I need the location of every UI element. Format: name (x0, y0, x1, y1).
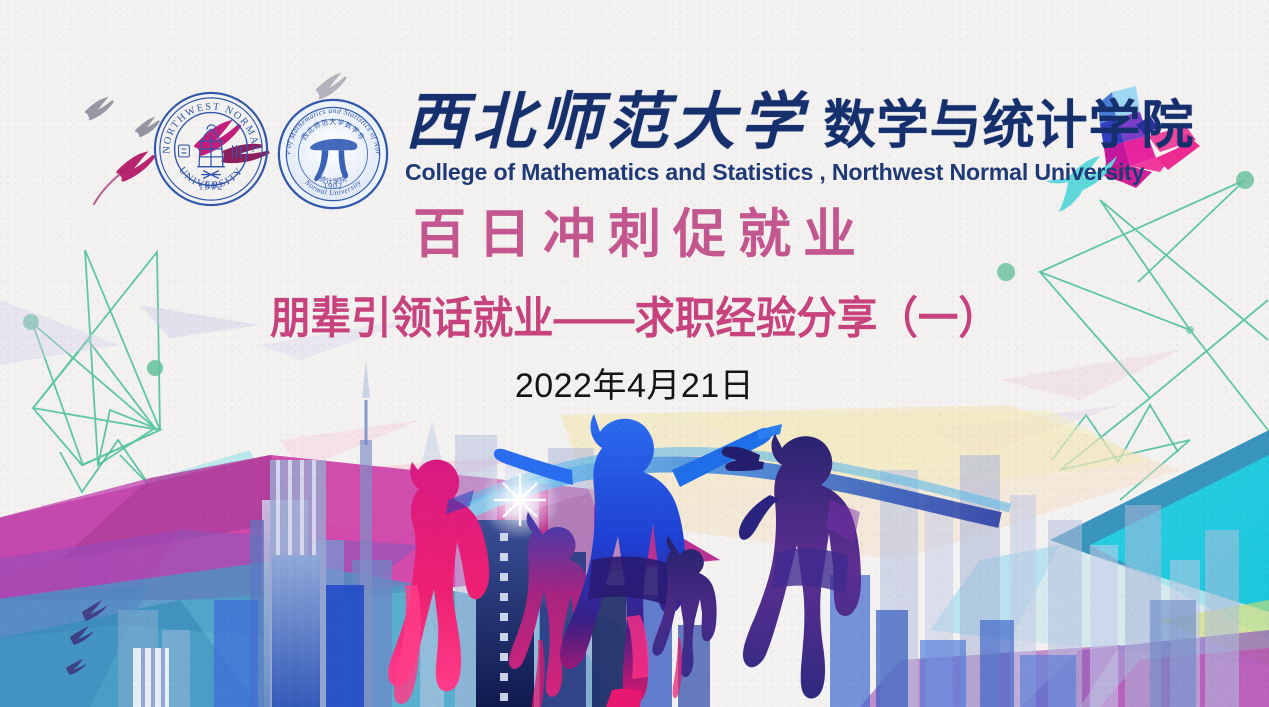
header-brand-block: NORTHWEST NORMAL UNIVERSITY 190 (0, 40, 1269, 175)
institution-name-chinese: 西北师范大学 数学与统计学院 (405, 92, 1115, 155)
svg-text:1902: 1902 (323, 182, 343, 191)
svg-text:1902: 1902 (198, 181, 223, 192)
college-name-cn: 数学与统计学院 (824, 98, 1195, 155)
event-date: 2022年4月21日 (0, 358, 1269, 407)
sub-title: 朋辈引领话就业——求职经验分享（一） (51, 282, 1218, 346)
northwest-normal-university-seal: NORTHWEST NORMAL UNIVERSITY 190 (152, 90, 270, 208)
main-title: 百日冲刺促就业 (0, 192, 1269, 268)
poster-canvas: NORTHWEST NORMAL UNIVERSITY 190 (0, 0, 1269, 707)
institution-name-english: College of Mathematics and Statistics , … (405, 159, 1104, 186)
university-name-cn: 西北师范大学 (405, 89, 807, 157)
wordmark: 西北师范大学 数学与统计学院 College of Mathematics an… (405, 92, 1115, 186)
